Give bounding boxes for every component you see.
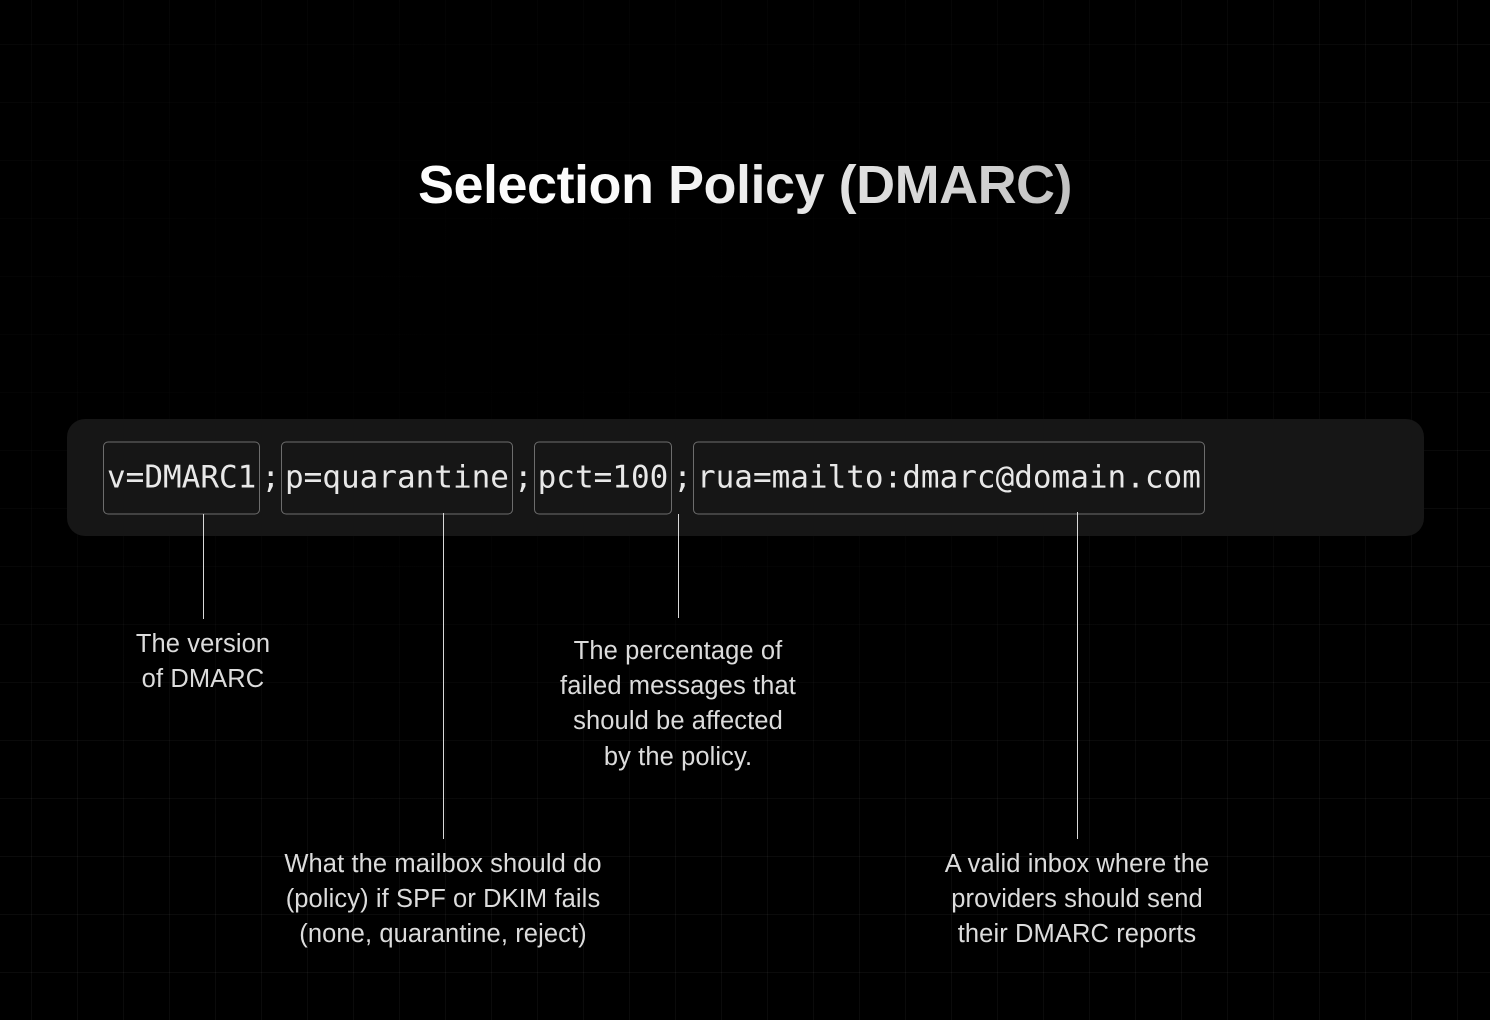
annotation-version: The version of DMARC <box>53 627 353 697</box>
connector-line-version <box>203 514 204 619</box>
page-title: Selection Policy (DMARC) <box>0 154 1490 216</box>
code-separator: ; <box>513 462 534 493</box>
annotation-rua: A valid inbox where the providers should… <box>897 847 1257 953</box>
code-segment-policy[interactable]: p=quarantine <box>281 441 513 514</box>
code-segment-rua[interactable]: rua=mailto:dmarc@domain.com <box>693 441 1205 514</box>
connector-line-rua <box>1077 512 1078 839</box>
code-separator: ; <box>672 462 693 493</box>
annotation-pct: The percentage of failed messages that s… <box>528 634 828 775</box>
connector-line-pct <box>678 514 679 618</box>
code-separator: ; <box>260 462 281 493</box>
code-segment-pct[interactable]: pct=100 <box>534 441 673 514</box>
dmarc-record-line: v=DMARC1 ; p=quarantine ; pct=100 ; rua=… <box>103 441 1205 514</box>
connector-line-policy <box>443 513 444 839</box>
annotation-policy: What the mailbox should do (policy) if S… <box>243 847 643 953</box>
dmarc-record-panel: v=DMARC1 ; p=quarantine ; pct=100 ; rua=… <box>67 419 1424 536</box>
code-segment-version[interactable]: v=DMARC1 <box>103 441 260 514</box>
slide-canvas: Selection Policy (DMARC) v=DMARC1 ; p=qu… <box>0 0 1490 1020</box>
